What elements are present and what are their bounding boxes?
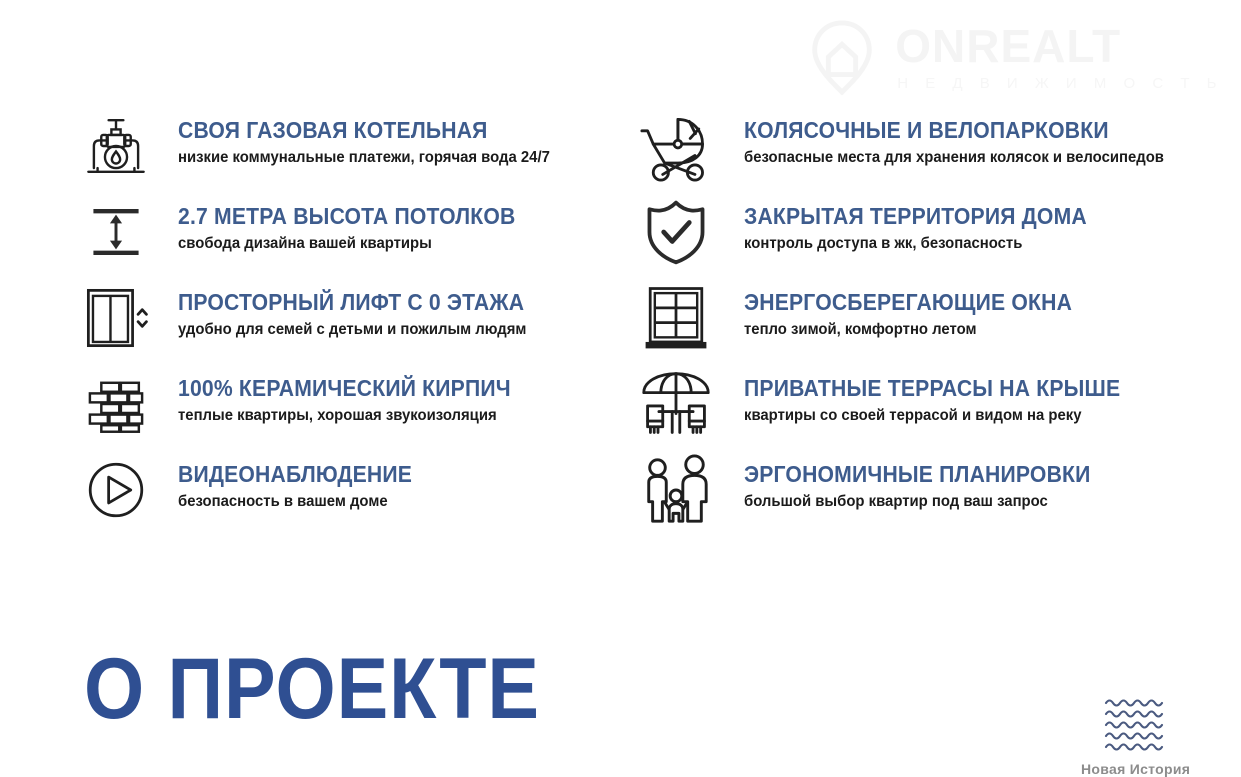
feature-subtitle: контроль доступа в жк, безопасность bbox=[744, 235, 1091, 253]
brick-wall-icon bbox=[78, 366, 154, 442]
feature-text: ЗАКРЫТАЯ ТЕРРИТОРИЯ ДОМА контроль доступ… bbox=[744, 194, 1117, 252]
feature-subtitle: безопасность в вашем доме bbox=[178, 493, 415, 511]
family-icon bbox=[638, 452, 714, 528]
feature-text: 100% КЕРАМИЧЕСКИЙ КИРПИЧ теплые квартиры… bbox=[178, 366, 540, 424]
elevator-icon bbox=[78, 280, 154, 356]
feature-text: ПРИВАТНЫЕ ТЕРРАСЫ НА КРЫШЕ квартиры со с… bbox=[744, 366, 1153, 424]
feature-title: ПРОСТОРНЫЙ ЛИФТ С 0 ЭТАЖА bbox=[178, 290, 524, 315]
feature-subtitle: тепло зимой, комфортно летом bbox=[744, 321, 1076, 339]
feature-title: ЭНЕРГОСБЕРЕГАЮЩИЕ ОКНА bbox=[744, 290, 1072, 315]
patio-umbrella-terrace-icon bbox=[638, 366, 714, 442]
feature-subtitle: большой выбор квартир под ваш запрос bbox=[744, 493, 1094, 511]
features-column-right: КОЛЯСОЧНЫЕ И ВЕЛОПАРКОВКИ безопасные мес… bbox=[638, 108, 1238, 538]
feature-title: СВОЯ ГАЗОВАЯ КОТЕЛЬНАЯ bbox=[178, 118, 546, 143]
feature-title: ВИДЕОНАБЛЮДЕНИЕ bbox=[178, 462, 412, 487]
waves-logo-icon bbox=[1100, 694, 1170, 756]
feature-title: ЭРГОНОМИЧНЫЕ ПЛАНИРОВКИ bbox=[744, 462, 1091, 487]
feature-text: ВИДЕОНАБЛЮДЕНИЕ безопасность в вашем дом… bbox=[178, 452, 432, 510]
feature-title: КОЛЯСОЧНЫЕ И ВЕЛОПАРКОВКИ bbox=[744, 118, 1159, 143]
feature-video-surveillance: ВИДЕОНАБЛЮДЕНИЕ безопасность в вашем дом… bbox=[78, 452, 638, 538]
feature-title: ЗАКРЫТАЯ ТЕРРИТОРИЯ ДОМА bbox=[744, 204, 1087, 229]
feature-ergonomic-layouts: ЭРГОНОМИЧНЫЕ ПЛАНИРОВКИ большой выбор кв… bbox=[638, 452, 1238, 538]
feature-text: КОЛЯСОЧНЫЕ И ВЕЛОПАРКОВКИ безопасные мес… bbox=[744, 108, 1196, 166]
feature-title: 2.7 МЕТРА ВЫСОТА ПОТОЛКОВ bbox=[178, 204, 515, 229]
video-play-camera-icon bbox=[78, 452, 154, 528]
feature-subtitle: удобно для семей с детьми и пожилым людя… bbox=[178, 321, 528, 339]
feature-title: 100% КЕРАМИЧЕСКИЙ КИРПИЧ bbox=[178, 376, 511, 401]
feature-subtitle: квартиры со своей террасой и видом на ре… bbox=[744, 407, 1124, 425]
feature-energy-saving-windows: ЭНЕРГОСБЕРЕГАЮЩИЕ ОКНА тепло зимой, комф… bbox=[638, 280, 1238, 366]
ceiling-height-arrow-icon bbox=[78, 194, 154, 270]
features-column-left: СВОЯ ГАЗОВАЯ КОТЕЛЬНАЯ низкие коммунальн… bbox=[0, 108, 638, 538]
feature-subtitle: теплые квартиры, хорошая звукоизоляция bbox=[178, 407, 514, 425]
feature-ceiling-height: 2.7 МЕТРА ВЫСОТА ПОТОЛКОВ свобода дизайн… bbox=[78, 194, 638, 280]
feature-stroller-bike-parking: КОЛЯСОЧНЫЕ И ВЕЛОПАРКОВКИ безопасные мес… bbox=[638, 108, 1238, 194]
feature-ceramic-brick: 100% КЕРАМИЧЕСКИЙ КИРПИЧ теплые квартиры… bbox=[78, 366, 638, 452]
feature-elevator: ПРОСТОРНЫЙ ЛИФТ С 0 ЭТАЖА удобно для сем… bbox=[78, 280, 638, 366]
window-icon bbox=[638, 280, 714, 356]
baby-stroller-icon bbox=[638, 108, 714, 184]
onrealt-watermark: ONREALT Н Е Д В И Ж И М О С Т Ь bbox=[803, 18, 1223, 96]
brand-name: Новая История bbox=[1081, 761, 1189, 777]
watermark-text: ONREALT Н Е Д В И Ж И М О С Т Ь bbox=[895, 23, 1223, 91]
feature-title: ПРИВАТНЫЕ ТЕРРАСЫ НА КРЫШЕ bbox=[744, 376, 1120, 401]
page-title: О ПРОЕКТЕ bbox=[84, 646, 540, 732]
feature-text: ЭНЕРГОСБЕРЕГАЮЩИЕ ОКНА тепло зимой, комф… bbox=[744, 280, 1101, 338]
watermark-subtitle: Н Е Д В И Ж И М О С Т Ь bbox=[897, 76, 1223, 91]
feature-text: ЭРГОНОМИЧНЫЕ ПЛАНИРОВКИ большой выбор кв… bbox=[744, 452, 1121, 510]
brand-logo: Новая История bbox=[1081, 694, 1189, 777]
gas-boiler-icon bbox=[78, 108, 154, 184]
feature-text: СВОЯ ГАЗОВАЯ КОТЕЛЬНАЯ низкие коммунальн… bbox=[178, 108, 578, 166]
feature-text: ПРОСТОРНЫЙ ЛИФТ С 0 ЭТАЖА удобно для сем… bbox=[178, 280, 554, 338]
watermark-title: ONREALT bbox=[895, 23, 1223, 69]
map-pin-house-icon bbox=[803, 18, 881, 96]
feature-subtitle: безопасные места для хранения колясок и … bbox=[744, 149, 1164, 167]
feature-text: 2.7 МЕТРА ВЫСОТА ПОТОЛКОВ свобода дизайн… bbox=[178, 194, 545, 252]
feature-subtitle: низкие коммунальные платежи, горячая вод… bbox=[178, 149, 550, 167]
feature-gas-boiler: СВОЯ ГАЗОВАЯ КОТЕЛЬНАЯ низкие коммунальн… bbox=[78, 108, 638, 194]
features-grid: СВОЯ ГАЗОВАЯ КОТЕЛЬНАЯ низкие коммунальн… bbox=[0, 108, 1241, 538]
feature-closed-territory: ЗАКРЫТАЯ ТЕРРИТОРИЯ ДОМА контроль доступ… bbox=[638, 194, 1238, 280]
feature-rooftop-terraces: ПРИВАТНЫЕ ТЕРРАСЫ НА КРЫШЕ квартиры со с… bbox=[638, 366, 1238, 452]
feature-subtitle: свобода дизайна вашей квартиры bbox=[178, 235, 519, 253]
shield-check-icon bbox=[638, 194, 714, 270]
